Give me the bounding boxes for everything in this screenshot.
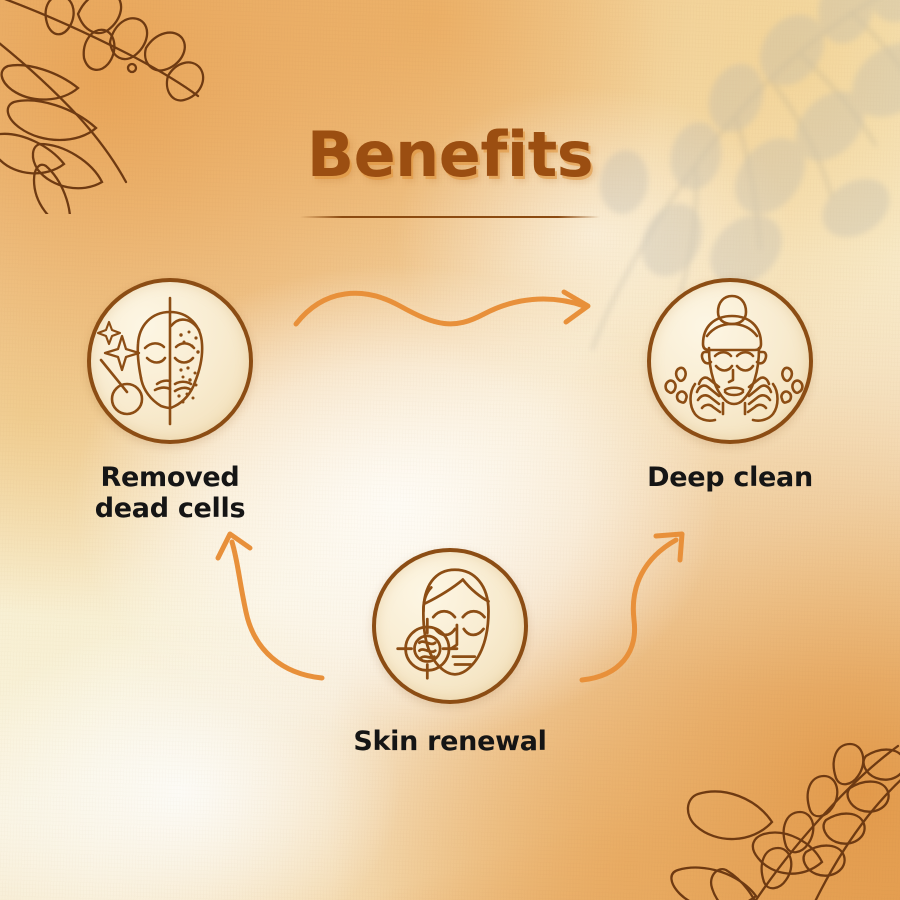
benefit-item-removed-dead-cells[interactable]: Removed dead cells bbox=[58, 278, 282, 525]
page-title: Benefits bbox=[0, 124, 900, 186]
benefit-item-skin-renewal[interactable]: Skin renewal bbox=[338, 548, 562, 757]
face-washing-icon bbox=[655, 286, 805, 436]
benefit-icon-circle bbox=[372, 548, 528, 704]
face-skin-target-icon bbox=[376, 551, 524, 701]
header: Benefits bbox=[0, 124, 900, 218]
benefit-icon-circle bbox=[647, 278, 813, 444]
title-divider bbox=[300, 216, 600, 218]
benefits-poster: Benefits bbox=[0, 0, 900, 900]
curved-arrow-up-left-icon bbox=[196, 516, 336, 688]
benefit-icon-circle bbox=[87, 278, 253, 444]
benefit-label: Removed dead cells bbox=[58, 462, 282, 525]
curved-arrow-up-right-icon bbox=[572, 516, 712, 688]
split-face-dead-skin-icon bbox=[95, 286, 245, 436]
benefit-label: Skin renewal bbox=[338, 726, 562, 757]
benefit-label: Deep clean bbox=[618, 462, 842, 493]
wavy-arrow-right-icon bbox=[288, 280, 614, 360]
benefit-item-deep-clean[interactable]: Deep clean bbox=[618, 278, 842, 493]
leaf-branch-icon bbox=[660, 682, 900, 900]
